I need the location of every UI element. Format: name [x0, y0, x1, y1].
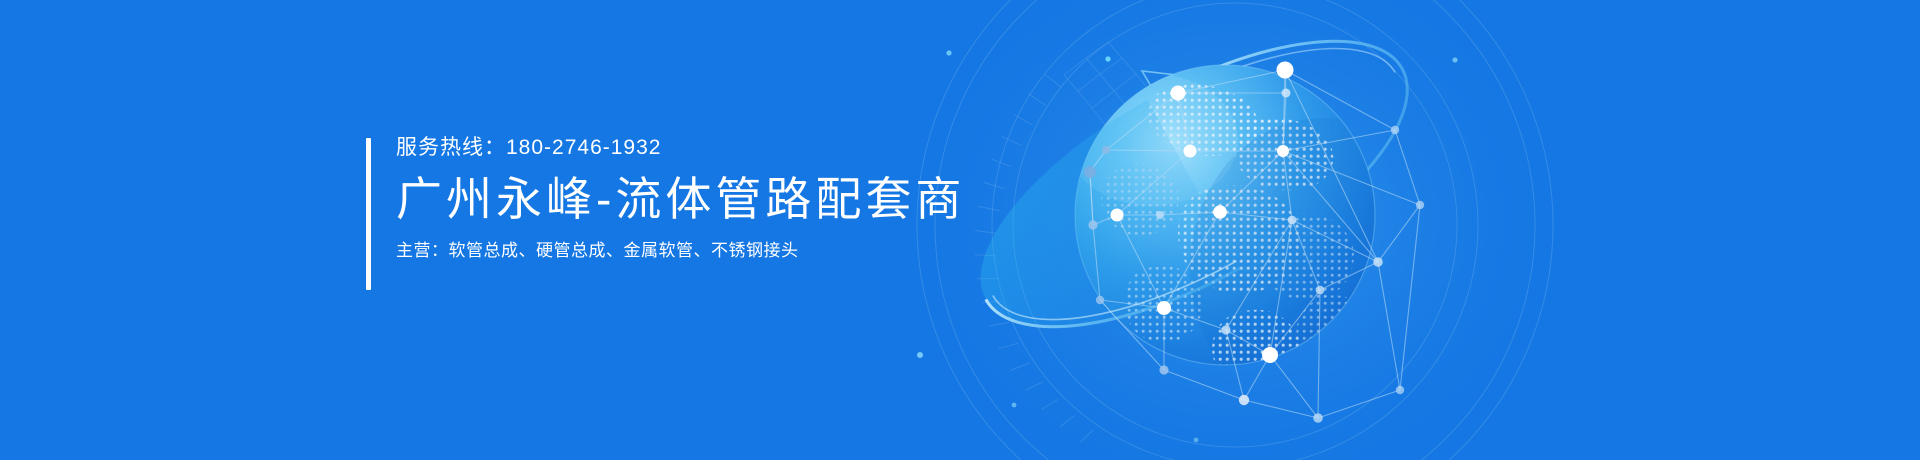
orbit-ring-back	[1147, 0, 1448, 268]
network-links	[1090, 70, 1420, 418]
banner-text-block: 服务热线：180-2746-1932 广州永峰-流体管路配套商 主营：软管总成、…	[366, 133, 965, 293]
banner-title: 广州永峰-流体管路配套商	[396, 167, 965, 231]
orbit-ring-front	[939, 100, 1240, 383]
globe-sphere	[1066, 65, 1454, 418]
hotline-text: 服务热线：180-2746-1932	[396, 133, 965, 163]
promo-banner: 服务热线：180-2746-1932 广州永峰-流体管路配套商 主营：软管总成、…	[0, 0, 1920, 460]
decor-grid	[1064, 42, 1186, 183]
sparkle-dots	[917, 50, 1458, 442]
radar-arcs	[917, 0, 1553, 460]
banner-subtitle: 主营：软管总成、硬管总成、金属软管、不锈钢接头	[396, 237, 965, 265]
accent-bar	[366, 138, 371, 290]
triangle-marker	[1142, 71, 1202, 108]
globe-continents	[1066, 74, 1454, 418]
radar-ladder	[975, 74, 1093, 442]
network-nodes	[1084, 62, 1424, 423]
